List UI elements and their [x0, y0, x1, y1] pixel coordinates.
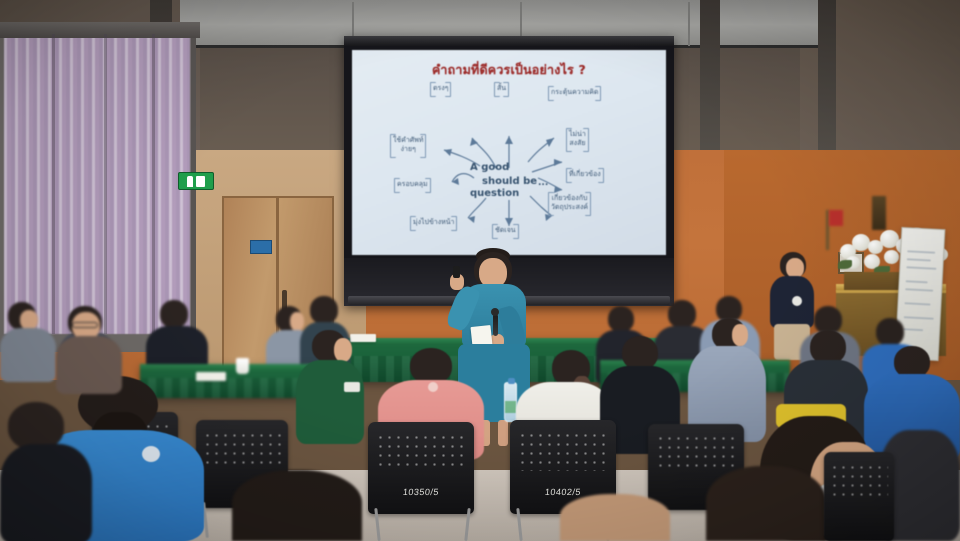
exit-figure-icon: [187, 176, 193, 187]
slide-node-short: สั้น: [494, 82, 509, 95]
paper-cup: [236, 358, 249, 374]
slide-center-line-3: question: [470, 188, 519, 201]
curtain-fold: [104, 34, 107, 334]
slide-node-stimulate: กระตุ้นความคิด: [548, 86, 601, 99]
curtain-fold: [52, 34, 55, 334]
slide-node-relevant: ที่เกี่ยวข้อง: [566, 168, 604, 181]
foreground-attendee-dark: [0, 402, 92, 541]
chair-left[interactable]: 10350/5: [368, 422, 474, 514]
attendee-green-uniform: [294, 330, 366, 444]
slide-center-line-2: should be: [482, 176, 537, 189]
slide-node-objective: เกี่ยวข้องกับ วัตถุประสงค์: [548, 192, 591, 214]
slide-node-cover: ครอบคลุม: [394, 178, 431, 191]
door-sign: [250, 240, 272, 254]
slide-node-simple: ใช้คำศัพท์ ง่ายๆ: [390, 134, 426, 156]
flag: [829, 210, 843, 226]
shirt-logo: [142, 446, 160, 462]
wall-beam: [700, 0, 720, 160]
curtain-fold: [152, 34, 155, 334]
slide-center-line-1: A good: [470, 162, 509, 175]
attendee-with-glasses: [56, 306, 122, 392]
uniform-badge: [344, 382, 360, 392]
attendee-back-row: [0, 302, 56, 380]
panel-seam: [688, 2, 690, 46]
screen-top-bar: [344, 36, 674, 46]
glasses-icon: [72, 322, 98, 328]
slide-node-forward: มุ่งไปข้างหน้า: [410, 216, 457, 229]
slide-center-ellipsis: ...: [538, 178, 548, 189]
exit-door-icon: [196, 176, 205, 187]
foreground-head: [560, 494, 670, 541]
wall-beam: [818, 0, 836, 160]
microphone[interactable]: [493, 314, 498, 336]
chair-number-left: 10350/5: [367, 487, 474, 497]
presentation-slide: คำถามที่ดีควรเป็นอย่างไร ?: [352, 50, 666, 255]
attendee-badge: [792, 296, 802, 306]
slide-node-no-doubt: ไม่น่า สงสัย: [566, 128, 589, 150]
presentation-clicker[interactable]: [453, 266, 460, 278]
foreground-head: [232, 470, 362, 541]
curtain: [4, 34, 190, 334]
attendee-face: [786, 258, 804, 278]
slide-node-direct: ตรงๆ: [430, 82, 451, 95]
slide-node-clear: ชัดเจน: [492, 224, 519, 237]
shrine-finial: [872, 196, 886, 230]
curtain-rod: [0, 22, 200, 38]
foreground-head: [706, 466, 826, 541]
exit-sign: [178, 172, 214, 190]
seminar-photo: คำถามที่ดีควรเป็นอย่างไร ?: [0, 0, 960, 541]
chair[interactable]: [824, 452, 894, 541]
microphone-head: [491, 308, 499, 316]
speaker-leg: [498, 420, 508, 446]
